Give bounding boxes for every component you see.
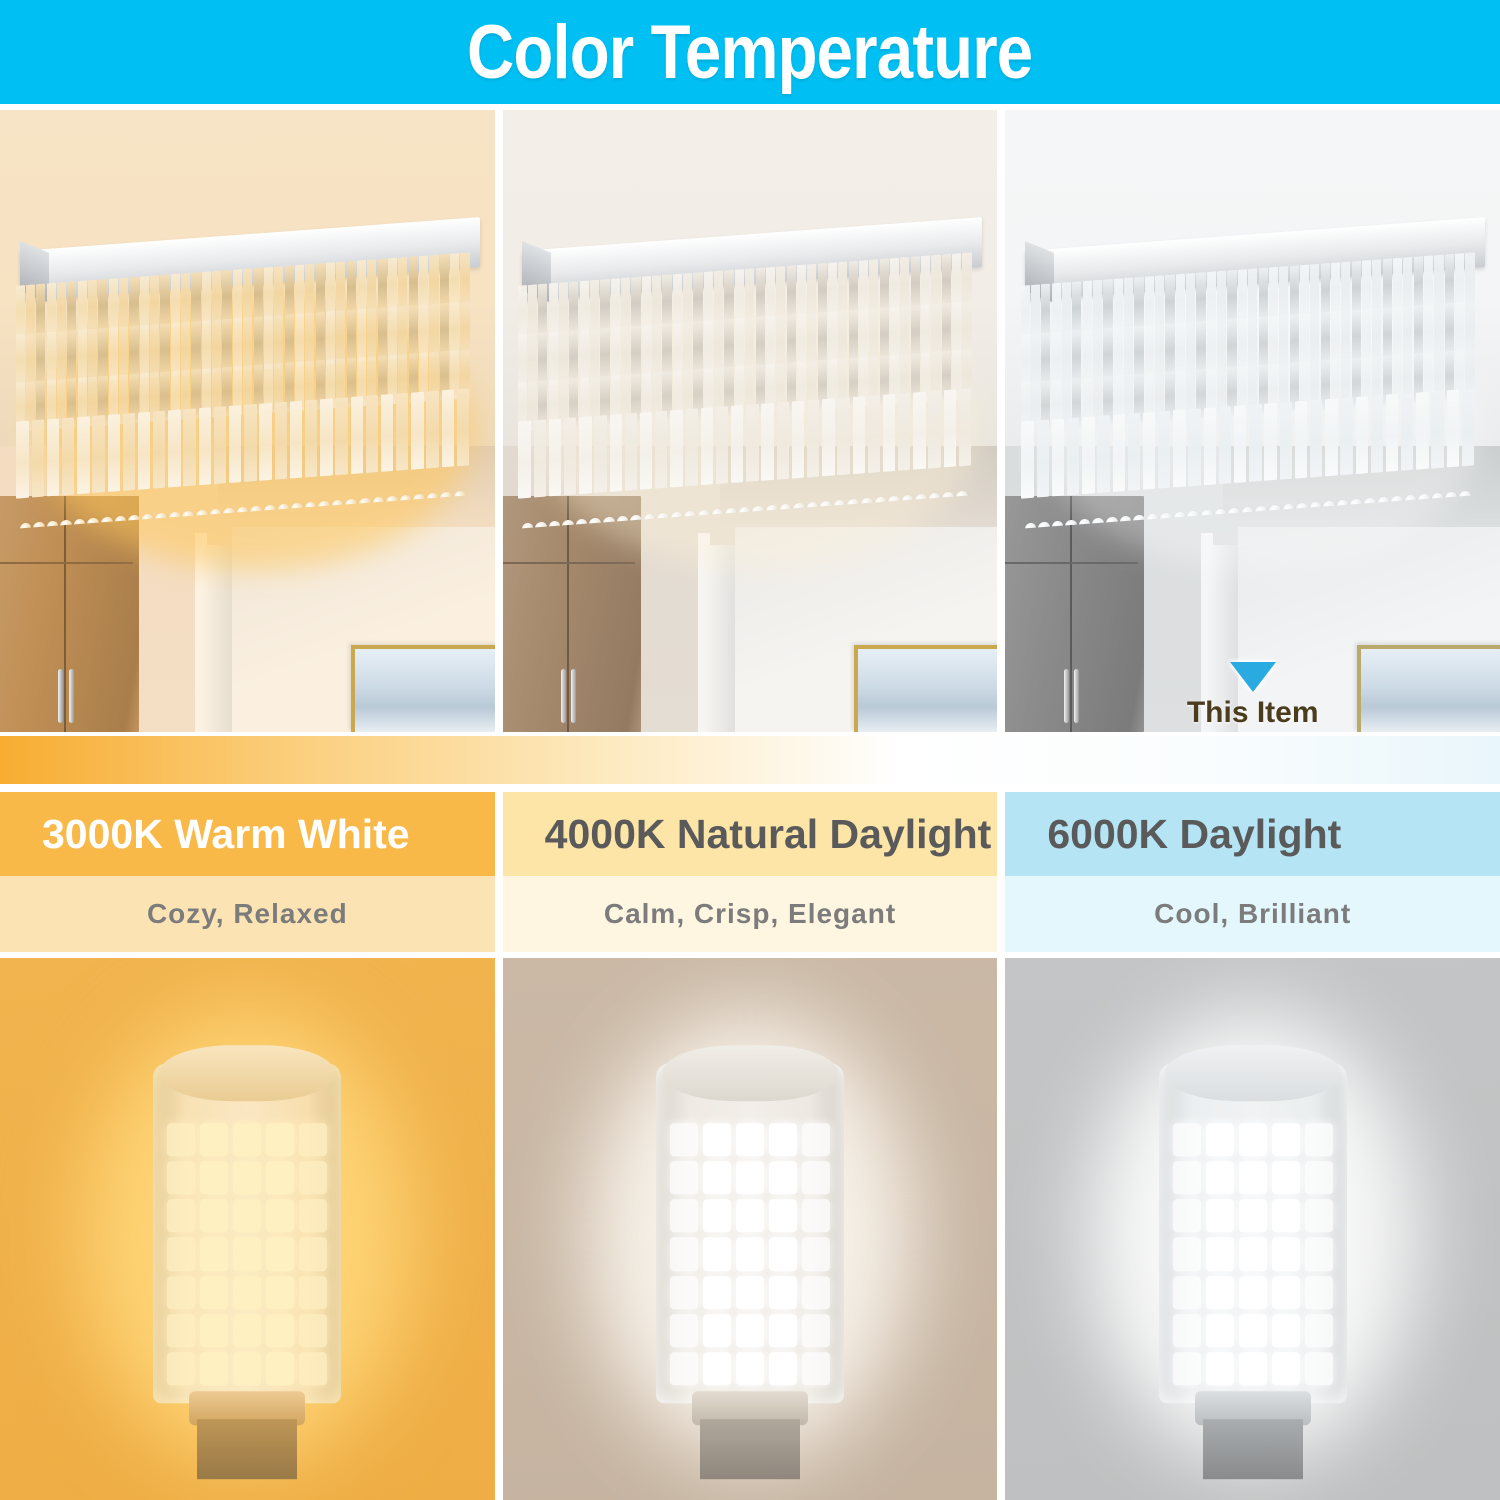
crystal-rod	[1041, 283, 1050, 337]
crystal-curtain	[517, 252, 972, 528]
crystal-rod	[202, 319, 211, 373]
crystal-prism	[1325, 398, 1337, 477]
label-column-6000k: 6000K Daylight Cool, Brilliant	[1005, 792, 1500, 952]
led-chip	[736, 1238, 764, 1271]
crystal-prism	[1462, 388, 1474, 467]
crystal-prism	[792, 400, 804, 479]
crystal-rod	[1041, 332, 1050, 386]
crystal-rod	[580, 280, 589, 334]
crystal-rod	[590, 328, 599, 382]
crystal-rod	[202, 271, 211, 325]
crystal-rod	[346, 309, 355, 363]
crystal-rod	[119, 326, 128, 380]
crystal-rod	[549, 331, 558, 385]
led-bulb-icon	[656, 1031, 844, 1461]
crystal-prism	[305, 399, 317, 478]
led-chip	[299, 1352, 327, 1385]
crystal-rod	[1021, 333, 1030, 387]
crystal-rod	[1269, 266, 1278, 320]
bulb-photo-4000k	[503, 958, 998, 1500]
crystal-prism	[1432, 390, 1444, 469]
crystal-rod	[870, 259, 879, 313]
crystal-rod	[1341, 310, 1350, 364]
bulb-photo-6000k	[1005, 958, 1500, 1500]
led-chip-grid	[1173, 1123, 1333, 1385]
crystal-rod	[160, 322, 169, 376]
crystal-prism	[1401, 392, 1413, 471]
led-chip	[769, 1352, 797, 1385]
crystal-rod	[129, 276, 138, 330]
crystal-prism	[1173, 409, 1185, 488]
crystal-rod	[528, 284, 537, 338]
crystal-prism	[580, 416, 592, 495]
crystal-rod	[212, 270, 221, 324]
led-chip	[200, 1161, 228, 1194]
crystal-ball	[46, 520, 58, 528]
crystal-rod	[160, 274, 169, 328]
led-chip-grid	[670, 1123, 830, 1385]
crystal-ball	[576, 518, 588, 528]
crystal-rod	[439, 302, 448, 356]
crystal-rod	[57, 330, 66, 384]
led-chip	[167, 1276, 195, 1309]
crystal-rod	[1103, 327, 1112, 381]
crystal-prism	[640, 411, 652, 490]
led-chip	[1239, 1199, 1267, 1232]
led-chip	[233, 1161, 261, 1194]
crystal-rod	[539, 283, 548, 337]
crystal-rod	[1393, 306, 1402, 360]
crystal-rod	[570, 329, 579, 383]
crystal-rod	[839, 310, 848, 364]
crystal-prism	[244, 403, 256, 482]
crystal-rod	[808, 263, 817, 317]
crystal-rod	[921, 303, 930, 357]
crystal-rod	[1465, 252, 1474, 306]
crystal-rod	[725, 269, 734, 323]
page-title: Color Temperature	[467, 9, 1032, 96]
led-chip	[769, 1123, 797, 1156]
led-chip	[200, 1276, 228, 1309]
crystal-rod	[1052, 331, 1061, 385]
led-bulb-icon	[1159, 1031, 1347, 1461]
crystal-rod	[818, 263, 827, 317]
crystal-rod	[1362, 260, 1371, 314]
crystal-rod	[1217, 270, 1226, 324]
crystal-prism	[1082, 416, 1094, 495]
crystal-rod	[1062, 282, 1071, 336]
crystal-rod	[652, 275, 661, 329]
led-chip	[167, 1352, 195, 1385]
led-chip	[1272, 1276, 1300, 1309]
led-chip	[670, 1199, 698, 1232]
crystal-rod	[367, 307, 376, 361]
led-bulb-icon	[153, 1031, 341, 1461]
crystal-prism	[610, 413, 622, 492]
led-chip	[670, 1161, 698, 1194]
crystal-rod	[67, 329, 76, 383]
led-chip	[1305, 1276, 1333, 1309]
crystal-prism	[426, 390, 438, 469]
led-chip	[1206, 1238, 1234, 1271]
crystal-rod	[77, 280, 86, 334]
crystal-rod	[756, 316, 765, 370]
crystal-rod	[518, 333, 527, 387]
crystal-rod	[67, 281, 76, 335]
crystal-rod	[746, 268, 755, 322]
led-chip	[1206, 1123, 1234, 1156]
crystal-prism	[1295, 400, 1307, 479]
crystal-rod	[1093, 279, 1102, 333]
crystal-rod	[450, 253, 459, 307]
crystal-rod	[1383, 258, 1392, 312]
crystal-rod	[601, 327, 610, 381]
crystal-rod	[36, 283, 45, 337]
crystal-rod	[15, 333, 24, 387]
led-chip	[167, 1199, 195, 1232]
crystal-rod	[663, 322, 672, 376]
crystal-ball	[1052, 520, 1064, 528]
led-chip	[167, 1238, 195, 1271]
crystal-rod	[797, 313, 806, 367]
led-chip	[736, 1352, 764, 1385]
led-chip	[299, 1161, 327, 1194]
crystal-rod	[439, 253, 448, 307]
crystal-rod	[326, 262, 335, 316]
crystal-rod	[611, 278, 620, 332]
crystal-rod	[1155, 275, 1164, 329]
crystal-rod	[849, 309, 858, 363]
crystal-ceiling-light-icon	[508, 234, 998, 545]
crystal-rod	[1093, 328, 1102, 382]
led-chip	[1239, 1238, 1267, 1271]
led-chip	[1173, 1123, 1201, 1156]
framed-artwork	[351, 645, 494, 732]
crystal-rod	[253, 267, 262, 321]
crystal-rod	[797, 264, 806, 318]
led-chip	[167, 1161, 195, 1194]
led-chip	[1272, 1123, 1300, 1156]
crystal-prism	[198, 407, 210, 486]
led-chip	[736, 1199, 764, 1232]
crystal-rod	[611, 326, 620, 380]
led-chip	[1206, 1199, 1234, 1232]
crystal-rod	[460, 300, 469, 354]
cabinet-handle-right	[571, 669, 576, 723]
crystal-rod	[315, 311, 324, 365]
crystal-rod	[429, 303, 438, 357]
led-chip	[266, 1199, 294, 1232]
crystal-rod	[828, 262, 837, 316]
crystal-rod	[1455, 301, 1464, 355]
led-chip	[1305, 1314, 1333, 1347]
bulb-stem	[1203, 1419, 1303, 1479]
crystal-prism	[365, 394, 377, 473]
crystal-rod	[715, 270, 724, 324]
crystal-rod	[1114, 278, 1123, 332]
this-item-marker: This Item	[1005, 662, 1500, 730]
crystal-rod	[921, 255, 930, 309]
crystal-ball	[536, 521, 548, 528]
crystal-prism	[1371, 394, 1383, 473]
artwork-image	[355, 649, 494, 732]
crystal-rod	[450, 301, 459, 355]
crystal-rod	[1072, 281, 1081, 335]
cabinet-handle-left	[561, 669, 566, 723]
crystal-rod	[890, 306, 899, 360]
crystal-rod	[952, 301, 961, 355]
crystal-rod	[150, 323, 159, 377]
led-chip	[167, 1314, 195, 1347]
crystal-prism	[595, 415, 607, 494]
crystal-rod	[539, 332, 548, 386]
crystal-prism	[519, 420, 531, 499]
crystal-prism	[1097, 415, 1109, 494]
crystal-rod	[1455, 253, 1464, 307]
crystal-prism	[1113, 413, 1125, 492]
crystal-rod	[346, 260, 355, 314]
crystal-rod	[1114, 326, 1123, 380]
crystal-rod	[870, 307, 879, 361]
led-chip	[703, 1314, 731, 1347]
crystal-rod	[1445, 253, 1454, 307]
crystal-rod	[1021, 285, 1030, 339]
crystal-rod	[326, 310, 335, 364]
led-chip	[266, 1238, 294, 1271]
crystal-rod	[398, 305, 407, 359]
led-chip	[802, 1314, 830, 1347]
crystal-rod	[1331, 262, 1340, 316]
crystal-rod	[777, 314, 786, 368]
bulb-cap	[159, 1045, 335, 1101]
led-chip	[769, 1314, 797, 1347]
crystal-rod	[336, 261, 345, 315]
crystal-prism	[107, 413, 119, 492]
crystal-prism	[168, 409, 180, 488]
doorway	[203, 545, 233, 732]
crystal-prism	[1021, 420, 1033, 499]
crystal-rod	[191, 272, 200, 326]
crystal-rod	[377, 307, 386, 361]
label-column-4000k: 4000K Natural Daylight Calm, Crisp, Eleg…	[503, 792, 998, 952]
crystal-rod	[1228, 269, 1237, 323]
crystal-rod	[460, 252, 469, 306]
crystal-rod	[46, 331, 55, 385]
crystal-ball	[522, 522, 534, 528]
scene-photo-6000k: This Item	[1005, 110, 1500, 732]
crystal-rod	[1321, 311, 1330, 365]
crystal-rod	[632, 325, 641, 379]
led-chip	[233, 1123, 261, 1156]
led-chip	[670, 1123, 698, 1156]
crystal-rod	[528, 332, 537, 386]
crystal-rod	[601, 279, 610, 333]
led-chip	[1239, 1276, 1267, 1309]
crystal-prism	[1386, 393, 1398, 472]
crystal-rod	[129, 325, 138, 379]
crystal-rod	[1165, 322, 1174, 376]
crystal-prism	[625, 412, 637, 491]
crystal-rod	[683, 272, 692, 326]
crystal-rod	[1031, 332, 1040, 386]
crystal-prism	[823, 398, 835, 477]
led-chip	[1239, 1314, 1267, 1347]
crystal-rod	[1186, 272, 1195, 326]
crystal-prism	[16, 420, 28, 499]
doorway	[705, 545, 735, 732]
led-chip	[200, 1199, 228, 1232]
crystal-rod	[621, 326, 630, 380]
crystal-rod	[632, 276, 641, 330]
crystal-rod	[274, 314, 283, 368]
bulb-stem	[700, 1419, 800, 1479]
crystal-rod	[725, 318, 734, 372]
crystal-rod	[419, 303, 428, 357]
label-column-3000k: 3000K Warm White Cozy, Relaxed	[0, 792, 495, 952]
crystal-rod	[1248, 268, 1257, 322]
crystal-rod	[1331, 310, 1340, 364]
crystal-rod	[1124, 326, 1133, 380]
label-desc-4000k: Calm, Crisp, Elegant	[503, 876, 998, 952]
crystal-rod	[1134, 276, 1143, 330]
crystal-rod	[357, 308, 366, 362]
bulb-photo-3000k	[0, 958, 495, 1500]
crystal-rod	[787, 313, 796, 367]
crystal-prism	[153, 410, 165, 489]
crystal-rod	[1362, 308, 1371, 362]
crystal-rod	[663, 274, 672, 328]
crystal-rod	[336, 310, 345, 364]
crystal-prism	[77, 416, 89, 495]
bulb-cap	[662, 1045, 838, 1101]
crystal-rod	[549, 282, 558, 336]
crystal-prism	[1128, 412, 1140, 491]
crystal-ball	[1038, 521, 1050, 528]
crystal-prism	[335, 397, 347, 476]
crystal-prism	[289, 400, 301, 479]
crystal-rod	[1279, 266, 1288, 320]
label-title-4000k: 4000K Natural Daylight	[503, 792, 998, 876]
crystal-ball	[956, 490, 968, 502]
led-chip	[1173, 1276, 1201, 1309]
crystal-rod	[1259, 267, 1268, 321]
crystal-rod	[580, 329, 589, 383]
crystal-rod	[419, 255, 428, 309]
led-chip	[1305, 1161, 1333, 1194]
crystal-rod	[88, 328, 97, 382]
crystal-rod	[880, 307, 889, 361]
crystal-prism	[1310, 399, 1322, 478]
crystal-rod	[932, 254, 941, 308]
crystal-ball	[74, 518, 86, 528]
crystal-rod	[1155, 323, 1164, 377]
crystal-prism	[1249, 403, 1261, 482]
led-chip	[670, 1314, 698, 1347]
crystal-prism	[1219, 406, 1231, 485]
crystal-rod	[77, 329, 86, 383]
crystal-rod	[963, 300, 972, 354]
crystal-rod	[233, 269, 242, 323]
led-chip	[1206, 1352, 1234, 1385]
crystal-rod	[766, 315, 775, 369]
crystal-rod	[1186, 321, 1195, 375]
crystal-rod	[108, 326, 117, 380]
crystal-rod	[170, 273, 179, 327]
crystal-rod	[284, 265, 293, 319]
crystal-rod	[818, 311, 827, 365]
triangle-down-icon	[1230, 662, 1276, 692]
led-chip	[1272, 1161, 1300, 1194]
led-chip	[769, 1276, 797, 1309]
temperature-gradient-bar	[0, 736, 1500, 784]
led-chip	[299, 1276, 327, 1309]
crystal-prism	[214, 406, 226, 485]
label-title-6000k: 6000K Daylight	[1005, 792, 1500, 876]
led-chip	[200, 1352, 228, 1385]
crystal-prism	[62, 417, 74, 496]
crystal-prism	[777, 401, 789, 480]
crystal-rod	[1145, 275, 1154, 329]
cabinet-handle-left	[58, 669, 63, 723]
crystal-rod	[1197, 320, 1206, 374]
crystal-rod	[621, 277, 630, 331]
crystal-rod	[518, 285, 527, 339]
led-chip	[703, 1352, 731, 1385]
crystal-ball	[60, 519, 72, 528]
led-chip	[299, 1123, 327, 1156]
crystal-rod	[119, 277, 128, 331]
crystal-rod	[1062, 330, 1071, 384]
crystal-rod	[735, 269, 744, 323]
led-chip	[266, 1161, 294, 1194]
crystal-rod	[1269, 315, 1278, 369]
crystal-rod	[284, 313, 293, 367]
crystal-rod	[36, 332, 45, 386]
crystal-rod	[859, 260, 868, 314]
crystal-rod	[746, 316, 755, 370]
crystal-prism	[92, 415, 104, 494]
crystal-rod	[1403, 256, 1412, 310]
crystal-prism	[1204, 407, 1216, 486]
crystal-rod	[911, 256, 920, 310]
crystal-rod	[942, 253, 951, 307]
led-chip	[802, 1276, 830, 1309]
led-chip	[736, 1276, 764, 1309]
crystal-prism	[1037, 419, 1049, 498]
led-chip	[1206, 1314, 1234, 1347]
crystal-prism	[883, 393, 895, 472]
crystal-rod	[1341, 261, 1350, 315]
led-chip	[736, 1314, 764, 1347]
crystal-rod	[1197, 272, 1206, 326]
crystal-rod	[1176, 322, 1185, 376]
crystal-rod	[1145, 324, 1154, 378]
led-chip	[266, 1123, 294, 1156]
crystal-prism	[929, 390, 941, 469]
crystal-rod	[911, 304, 920, 358]
crystal-rod	[1207, 271, 1216, 325]
crystal-rod	[901, 256, 910, 310]
crystal-prism	[320, 398, 332, 477]
led-chip	[1272, 1352, 1300, 1385]
crystal-prism	[441, 389, 453, 468]
crystal-ball	[1025, 522, 1037, 528]
crystal-rod	[673, 273, 682, 327]
crystal-rod	[952, 253, 961, 307]
crystal-prism	[183, 408, 195, 487]
crystal-prism	[686, 408, 698, 487]
crystal-prism	[396, 392, 408, 471]
